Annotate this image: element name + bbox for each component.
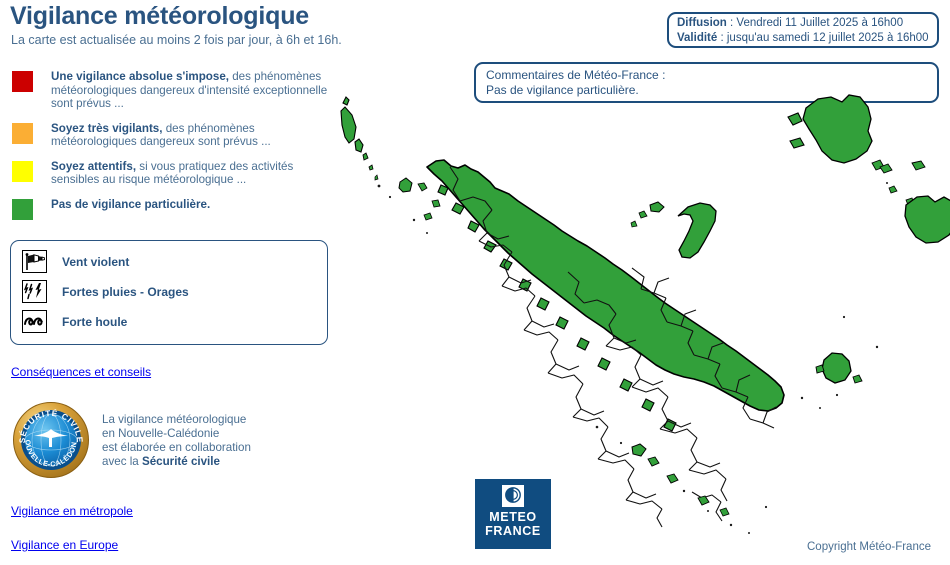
risk-label-swell: Forte houle bbox=[62, 315, 127, 329]
risk-row-wind: Vent violent bbox=[22, 250, 327, 273]
green-level-text: Pas de vigilance particulière. bbox=[51, 198, 210, 212]
heavy-swell-icon bbox=[22, 310, 47, 333]
risk-label-wind: Vent violent bbox=[62, 255, 129, 269]
copyright-text: Copyright Météo-France bbox=[807, 541, 931, 553]
risk-row-swell: Forte houle bbox=[22, 310, 327, 333]
securite-civile-logo: SÉCURITÉ CIVILE NOUVELLE-CALÉDONIE bbox=[12, 401, 90, 479]
map-island-belep[interactable] bbox=[341, 97, 378, 180]
diffusion-value: : Vendredi 11 Juillet 2025 à 16h00 bbox=[727, 17, 903, 29]
securite-line-4-strong: Sécurité civile bbox=[142, 455, 220, 468]
vigilance-level-legend: Une vigilance absolue s'impose, des phén… bbox=[12, 70, 332, 231]
diffusion-label: Diffusion bbox=[677, 17, 727, 29]
green-level-strong: Pas de vigilance particulière. bbox=[51, 198, 210, 211]
map-island-mare[interactable] bbox=[905, 196, 950, 243]
page-title: Vigilance météorologique bbox=[10, 2, 309, 31]
link-vigilance-en-europe[interactable]: Vigilance en Europe bbox=[11, 538, 118, 552]
meteo-france-word-2: FRANCE bbox=[475, 524, 551, 538]
rain-thunderstorm-icon bbox=[22, 280, 47, 303]
map-grande-terre[interactable] bbox=[427, 160, 784, 527]
map-island-ouvea[interactable] bbox=[631, 202, 716, 258]
legend-row-red: Une vigilance absolue s'impose, des phén… bbox=[12, 70, 332, 111]
meteo-france-word-1: METEO bbox=[475, 510, 551, 524]
orange-level-swatch bbox=[12, 123, 33, 144]
yellow-level-swatch bbox=[12, 161, 33, 182]
map-islets-southwest bbox=[632, 444, 729, 516]
legend-row-orange: Soyez très vigilants, des phénomènes mét… bbox=[12, 122, 332, 149]
map-island-lifou[interactable] bbox=[788, 95, 884, 170]
securite-civile-text: La vigilance météorologique en Nouvelle-… bbox=[102, 413, 251, 469]
orange-level-text: Soyez très vigilants, des phénomènes mét… bbox=[51, 122, 332, 149]
risk-type-legend-box: Vent violent Fortes pluies - Orages bbox=[10, 240, 328, 345]
map-reef-dots bbox=[378, 182, 888, 534]
securite-line-4: avec la Sécurité civile bbox=[102, 455, 251, 469]
risk-label-rain-storm: Fortes pluies - Orages bbox=[62, 285, 189, 299]
meteo-france-logo: METEO FRANCE bbox=[475, 479, 551, 549]
validity-line: Validité : jusqu'au samedi 12 juillet 20… bbox=[677, 31, 929, 46]
link-vigilance-en-metropole[interactable]: Vigilance en métropole bbox=[11, 504, 133, 518]
legend-row-green: Pas de vigilance particulière. bbox=[12, 198, 332, 220]
map-island-ile-des-pins[interactable] bbox=[816, 353, 862, 383]
securite-line-3: est élaborée en collaboration bbox=[102, 441, 251, 455]
red-level-swatch bbox=[12, 71, 33, 92]
diffusion-line: Diffusion : Vendredi 11 Juillet 2025 à 1… bbox=[677, 16, 929, 31]
green-level-swatch bbox=[12, 199, 33, 220]
securite-line-4-prefix: avec la bbox=[102, 455, 142, 468]
validity-label: Validité bbox=[677, 32, 717, 44]
vigilance-map-new-caledonia[interactable] bbox=[332, 55, 950, 555]
vigilance-page: Vigilance météorologique La carte est ac… bbox=[0, 0, 950, 565]
diffusion-validity-box: Diffusion : Vendredi 11 Juillet 2025 à 1… bbox=[667, 12, 939, 48]
yellow-level-text: Soyez attentifs, si vous pratiquez des a… bbox=[51, 160, 332, 187]
securite-line-1: La vigilance météorologique bbox=[102, 413, 251, 427]
orange-level-strong: Soyez très vigilants, bbox=[51, 122, 162, 135]
red-level-strong: Une vigilance absolue s'impose, bbox=[51, 70, 229, 83]
yellow-level-strong: Soyez attentifs, bbox=[51, 160, 136, 173]
red-level-text: Une vigilance absolue s'impose, des phén… bbox=[51, 70, 332, 111]
page-subtitle: La carte est actualisée au moins 2 fois … bbox=[11, 33, 342, 47]
risk-row-rain-storm: Fortes pluies - Orages bbox=[22, 280, 327, 303]
windsock-icon bbox=[22, 250, 47, 273]
securite-line-2: en Nouvelle-Calédonie bbox=[102, 427, 251, 441]
securite-civile-block: SÉCURITÉ CIVILE NOUVELLE-CALÉDONIE La vi… bbox=[12, 401, 322, 479]
validity-value: : jusqu'au samedi 12 juillet 2025 à 16h0… bbox=[717, 32, 928, 44]
meteo-france-mark-icon bbox=[502, 485, 524, 507]
link-consequences-et-conseils[interactable]: Conséquences et conseils bbox=[11, 365, 151, 379]
legend-row-yellow: Soyez attentifs, si vous pratiquez des a… bbox=[12, 160, 332, 187]
